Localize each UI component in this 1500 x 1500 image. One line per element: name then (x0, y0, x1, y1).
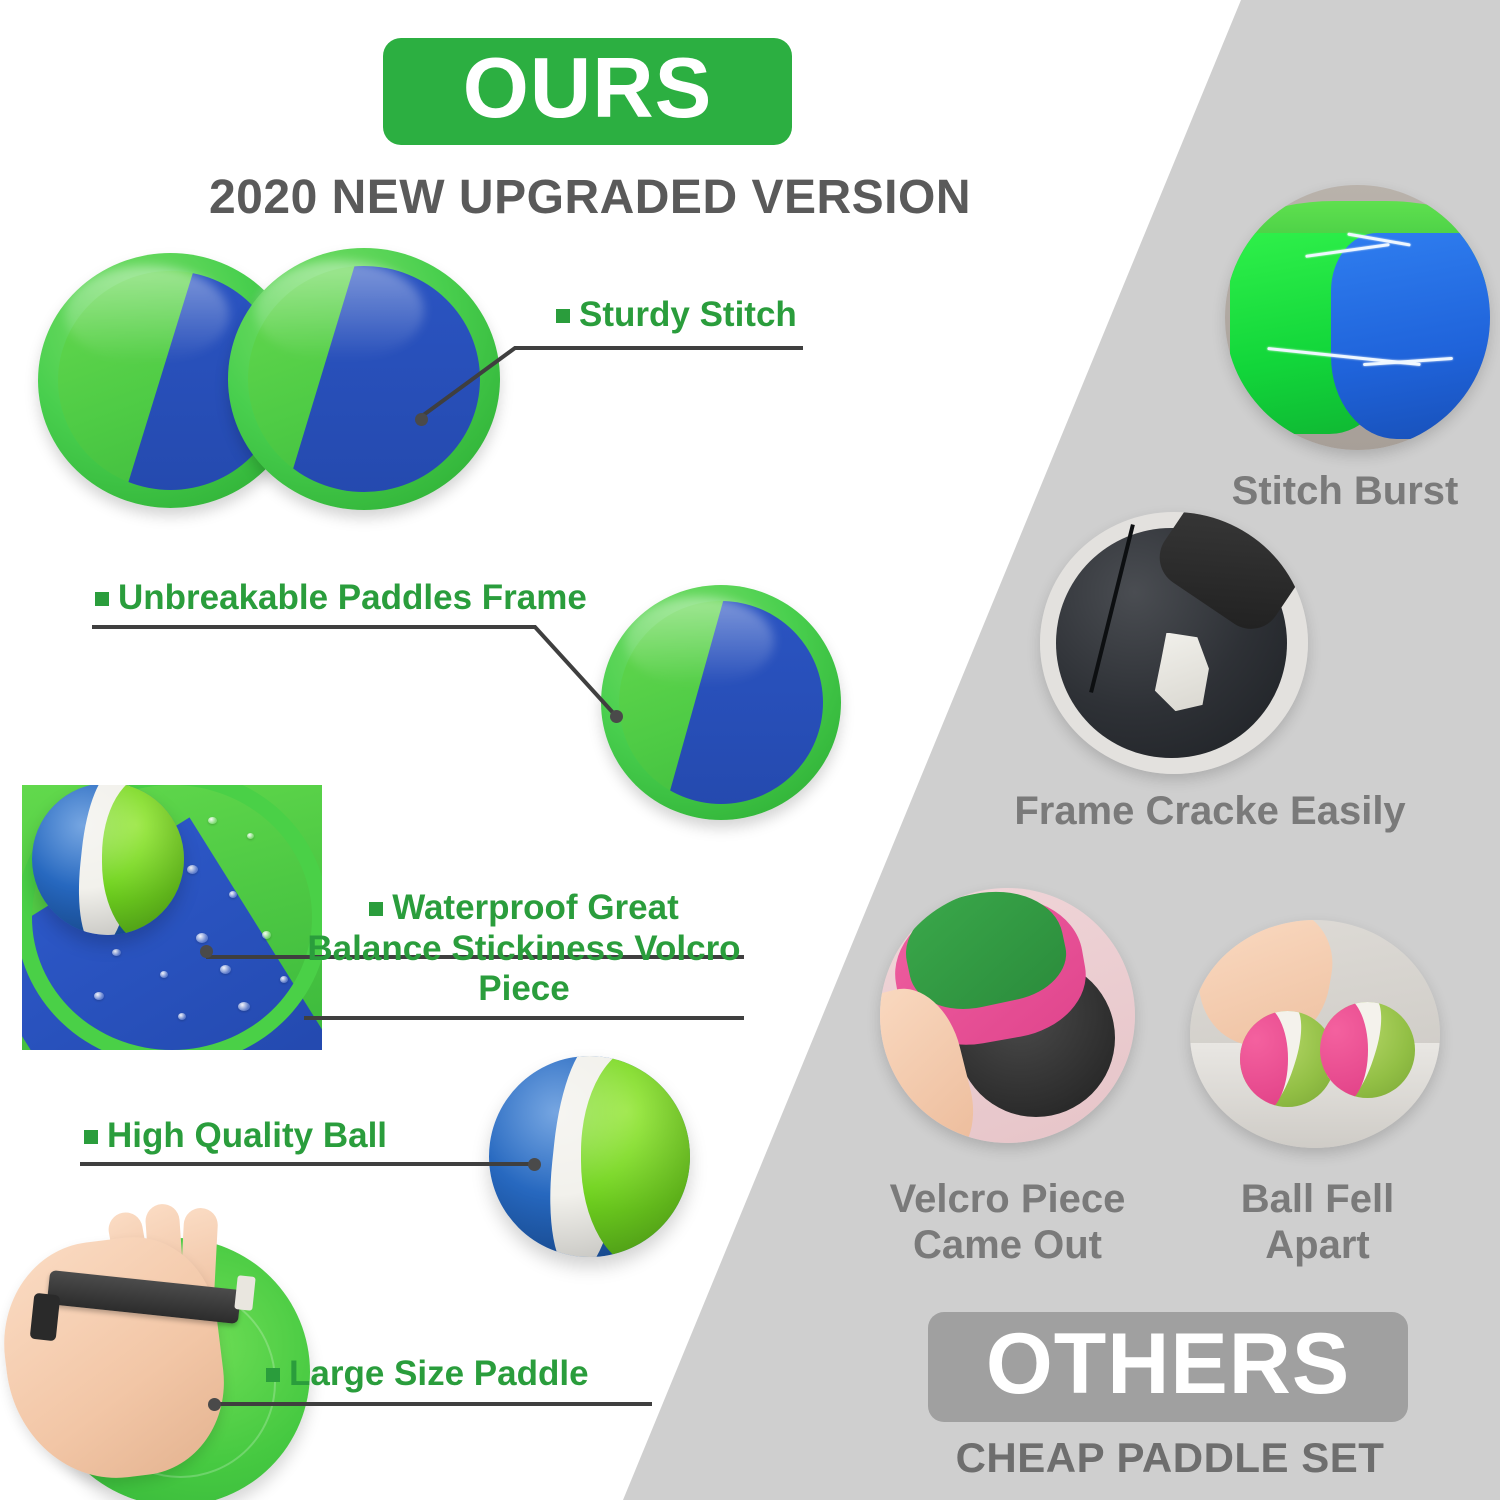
callout-underline (304, 1016, 744, 1020)
defect-label-velcro-came-out: Velcro Piece Came Out (855, 1176, 1160, 1269)
bullet-square-icon (266, 1368, 280, 1382)
photo-ball-fell-apart (1190, 920, 1440, 1148)
ours-subtitle: 2020 NEW UPGRADED VERSION (0, 170, 1180, 225)
waterproof-closeup-illustration (22, 785, 322, 1050)
bullet-square-icon (556, 309, 570, 323)
others-subtitle: CHEAP PADDLE SET (880, 1434, 1460, 1482)
ball-pink-section (1320, 1002, 1368, 1098)
callout-anchor-dot (415, 413, 428, 426)
callout-label: Large Size Paddle (266, 1354, 596, 1395)
defect-label-ball-fell-apart: Ball Fell Apart (1185, 1176, 1450, 1269)
callout-label: High Quality Ball (84, 1116, 424, 1157)
ours-badge: OURS (383, 38, 792, 145)
callout-label: Sturdy Stitch (556, 295, 804, 336)
strap-buckle (30, 1293, 61, 1341)
paddle-gloss (65, 266, 229, 363)
callout-unbreakable-frame: Unbreakable Paddles Frame (95, 578, 525, 619)
others-badge: OTHERS (928, 1312, 1408, 1422)
photo-frame-cracked (1040, 512, 1308, 774)
callout-sturdy-stitch: Sturdy Stitch (556, 295, 804, 336)
callout-anchor-dot (528, 1158, 541, 1171)
photo-stitch-burst (1225, 185, 1490, 450)
callout-leader-line (92, 624, 622, 724)
ball-illustration (489, 1056, 690, 1257)
bullet-square-icon (95, 592, 109, 606)
callout-anchor-dot (200, 945, 213, 958)
others-badge-label: OTHERS (986, 1321, 1350, 1413)
paddle-gloss (625, 597, 774, 686)
ball-pink-section (1240, 1011, 1288, 1107)
defect-label-frame-cracke: Frame Cracke Easily (985, 788, 1435, 834)
bullet-square-icon (84, 1130, 98, 1144)
ours-badge-label: OURS (463, 46, 713, 137)
callout-waterproof-velcro: Waterproof Great Balance Stickiness Volc… (304, 888, 744, 1020)
strap-end (234, 1275, 255, 1311)
callout-label: Waterproof Great Balance Stickiness Volc… (304, 888, 744, 1010)
paddle-gloss (255, 261, 424, 361)
callout-leader-line (415, 340, 805, 425)
ball-shading (32, 785, 184, 935)
ball-on-paddle-illustration (32, 785, 184, 935)
single-paddle-illustration (601, 585, 841, 820)
photo-velcro-came-out (880, 888, 1135, 1143)
callout-leader-line (80, 1158, 532, 1170)
bullet-square-icon (369, 902, 383, 916)
callout-anchor-dot (208, 1398, 221, 1411)
callout-large-size-paddle: Large Size Paddle (266, 1354, 596, 1395)
callout-label: Unbreakable Paddles Frame (95, 578, 525, 619)
callout-leader-line (214, 1398, 654, 1410)
blue-velcro-fabric (1331, 233, 1490, 440)
callout-anchor-dot (610, 710, 623, 723)
defect-label-stitch-burst: Stitch Burst (1190, 468, 1500, 514)
ball-shading (489, 1056, 690, 1257)
infographic-canvas: OURS 2020 NEW UPGRADED VERSION (0, 0, 1500, 1500)
callout-high-quality-ball: High Quality Ball (84, 1116, 424, 1157)
broken-ball (1320, 1002, 1415, 1098)
